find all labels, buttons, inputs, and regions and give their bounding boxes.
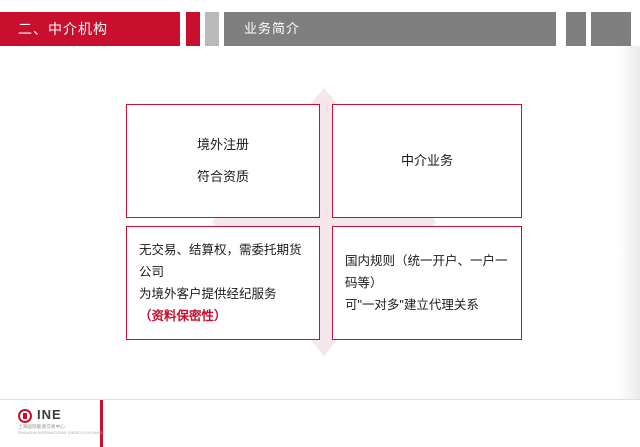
header-accent-grey <box>205 12 219 46</box>
page-title: 二、中介机构 <box>18 12 108 46</box>
box-top-right: 中介业务 <box>332 104 522 218</box>
box-line: 无交易、结算权，需委托期货公司 <box>139 239 307 283</box>
box-line: 境外注册 <box>197 129 249 161</box>
quadrant-diagram: 境外注册 符合资质 中介业务 无交易、结算权，需委托期货公司 为境外客户提供经纪… <box>110 88 538 356</box>
box-line: 中介业务 <box>401 145 453 177</box>
box-top-left: 境外注册 符合资质 <box>126 104 320 218</box>
slide-header: 二、中介机构 业务简介 <box>0 12 640 46</box>
box-bottom-left: 无交易、结算权，需委托期货公司 为境外客户提供经纪服务 （资料保密性） <box>126 226 320 340</box>
box-line-highlight: （资料保密性） <box>139 305 307 327</box>
ine-logo-text: INE <box>37 407 62 422</box>
header-tail-block-2 <box>591 12 631 46</box>
header-tail-block-1 <box>566 12 586 46</box>
slide-footer: INE 上海国际能源交易中心 SHANGHAI INTERNATIONAL EN… <box>0 399 640 447</box>
box-line: 为境外客户提供经纪服务 <box>139 283 307 305</box>
box-line: 国内规则（统一开户、一户一码等） <box>345 250 509 294</box>
ine-logo-chinese: 上海国际能源交易中心 <box>18 424 65 430</box>
box-line: 可"一对多"建立代理关系 <box>345 294 509 316</box>
header-accent-red <box>186 12 200 46</box>
right-edge-shading <box>618 46 640 400</box>
ine-logo-english: SHANGHAI INTERNATIONAL ENERGY EXCHANGE <box>18 431 105 435</box>
box-bottom-right: 国内规则（统一开户、一户一码等） 可"一对多"建立代理关系 <box>332 226 522 340</box>
slide: 二、中介机构 业务简介 境外注册 符合资质 中介业务 无交易、结算权，需委托期货… <box>0 0 640 447</box>
header-subtitle: 业务简介 <box>244 12 300 46</box>
ine-logo-icon <box>18 409 32 423</box>
box-line: 符合资质 <box>197 161 249 193</box>
ine-logo: INE 上海国际能源交易中心 SHANGHAI INTERNATIONAL EN… <box>18 407 104 439</box>
